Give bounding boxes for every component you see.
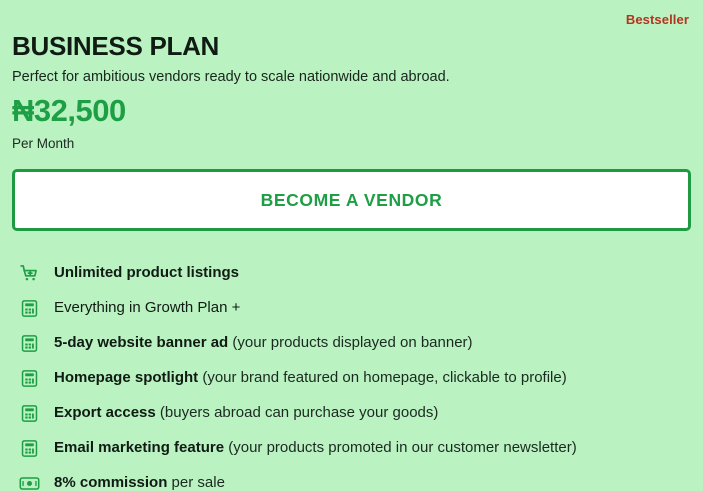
- calculator-icon: [18, 367, 40, 389]
- feature-item: Unlimited product listings: [12, 256, 691, 291]
- feature-list: Unlimited product listingsEverything in …: [12, 256, 691, 491]
- feature-text: 5-day website banner ad (your products d…: [54, 334, 473, 352]
- feature-detail: (your products promoted in our customer …: [224, 439, 577, 456]
- feature-detail: (your brand featured on homepage, clicka…: [198, 369, 567, 386]
- feature-label: 5-day website banner ad: [54, 334, 228, 351]
- plan-subtitle: Perfect for ambitious vendors ready to s…: [12, 68, 691, 86]
- bestseller-badge: Bestseller: [626, 12, 689, 27]
- feature-label: 8% commission: [54, 474, 167, 491]
- plan-price: ₦32,500: [12, 94, 691, 128]
- feature-text: Everything in Growth Plan +: [54, 299, 240, 317]
- plan-price-period: Per Month: [12, 136, 691, 151]
- feature-item: Homepage spotlight (your brand featured …: [12, 361, 691, 396]
- feature-item: Export access (buyers abroad can purchas…: [12, 396, 691, 431]
- feature-label: Email marketing feature: [54, 439, 224, 456]
- add-to-cart-icon: [18, 262, 40, 284]
- feature-item: 5-day website banner ad (your products d…: [12, 326, 691, 361]
- calculator-icon: [18, 437, 40, 459]
- feature-label: Unlimited product listings: [54, 264, 239, 281]
- calculator-icon: [18, 332, 40, 354]
- feature-text: Unlimited product listings: [54, 264, 239, 282]
- feature-item: Everything in Growth Plan +: [12, 291, 691, 326]
- feature-label: Export access: [54, 404, 156, 421]
- feature-detail: (buyers abroad can purchase your goods): [156, 404, 439, 421]
- feature-detail: (your products displayed on banner): [228, 334, 472, 351]
- feature-item: 8% commission per sale: [12, 466, 691, 491]
- plan-title: BUSINESS PLAN: [12, 32, 691, 61]
- pricing-card: Bestseller BUSINESS PLAN Perfect for amb…: [0, 0, 703, 491]
- feature-text: Export access (buyers abroad can purchas…: [54, 404, 438, 422]
- feature-text: Email marketing feature (your products p…: [54, 439, 577, 457]
- feature-detail: per sale: [167, 474, 225, 491]
- feature-text: 8% commission per sale: [54, 474, 225, 491]
- calculator-icon: [18, 297, 40, 319]
- feature-label: Homepage spotlight: [54, 369, 198, 386]
- feature-label: Everything in Growth Plan +: [54, 299, 240, 316]
- feature-item: Email marketing feature (your products p…: [12, 431, 691, 466]
- banknote-icon: [18, 472, 40, 491]
- calculator-icon: [18, 402, 40, 424]
- become-a-vendor-button[interactable]: BECOME A VENDOR: [12, 169, 691, 231]
- feature-text: Homepage spotlight (your brand featured …: [54, 369, 567, 387]
